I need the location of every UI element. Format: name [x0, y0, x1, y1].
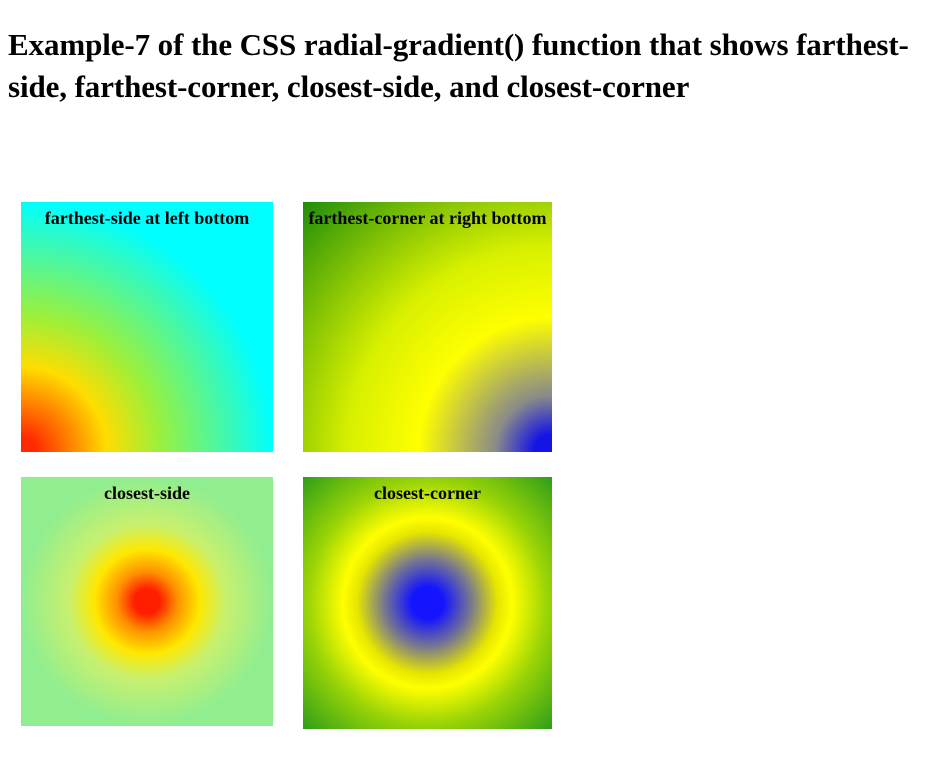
gradient-label-farthest-side: farthest-side at left bottom	[21, 202, 273, 229]
page-root: Example-7 of the CSS radial-gradient() f…	[0, 0, 944, 772]
gradient-box-farthest-corner: farthest-corner at right bottom	[303, 202, 552, 452]
gradient-label-closest-side: closest-side	[21, 477, 273, 504]
gradient-demo-grid: farthest-side at left bottom farthest-co…	[21, 202, 561, 732]
page-title: Example-7 of the CSS radial-gradient() f…	[8, 24, 926, 109]
gradient-box-closest-side: closest-side	[21, 477, 273, 726]
gradient-label-closest-corner: closest-corner	[303, 477, 552, 504]
gradient-box-closest-corner: closest-corner	[303, 477, 552, 729]
gradient-label-farthest-corner: farthest-corner at right bottom	[303, 202, 552, 229]
gradient-box-farthest-side: farthest-side at left bottom	[21, 202, 273, 452]
